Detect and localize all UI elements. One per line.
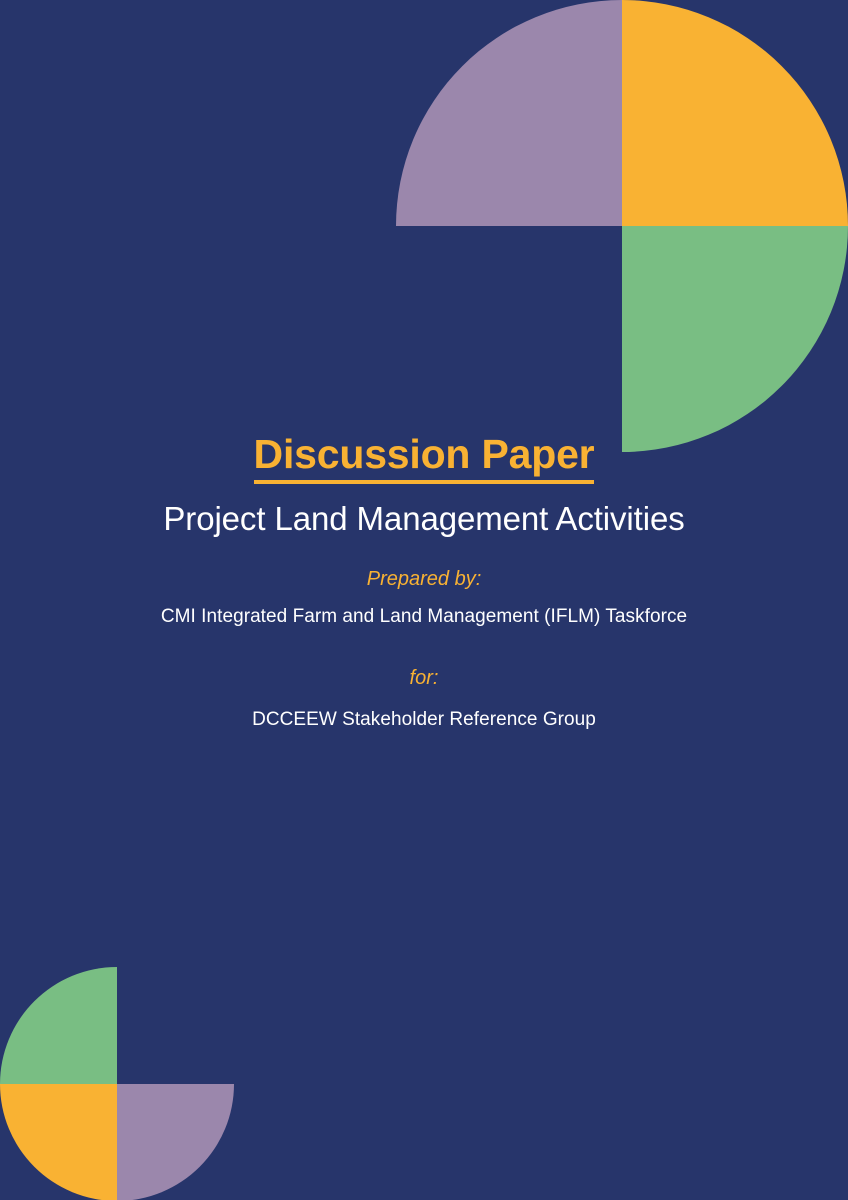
cover-text-block: Discussion Paper Project Land Management… — [0, 432, 848, 734]
top-right-yellow-quarter-circle-decoration — [622, 0, 848, 226]
prepared-by-organisation: CMI Integrated Farm and Land Management … — [96, 603, 752, 632]
page-title: Project Land Management Activities — [96, 498, 752, 540]
document-cover-page: Discussion Paper Project Land Management… — [0, 0, 848, 1200]
document-type-heading: Discussion Paper — [96, 432, 752, 484]
bottom-left-green-quarter-circle-decoration — [0, 967, 117, 1084]
bottom-left-purple-quarter-circle-decoration — [117, 1084, 234, 1200]
prepared-by-label: Prepared by: — [96, 567, 752, 591]
bottom-left-yellow-quarter-circle-decoration — [0, 1084, 117, 1200]
recipient-organisation: DCCEEW Stakeholder Reference Group — [96, 706, 752, 735]
document-type-label: Discussion Paper — [254, 432, 595, 484]
top-right-green-quarter-circle-decoration — [622, 226, 848, 452]
for-label: for: — [96, 666, 752, 690]
top-right-purple-quarter-circle-decoration — [396, 0, 622, 226]
